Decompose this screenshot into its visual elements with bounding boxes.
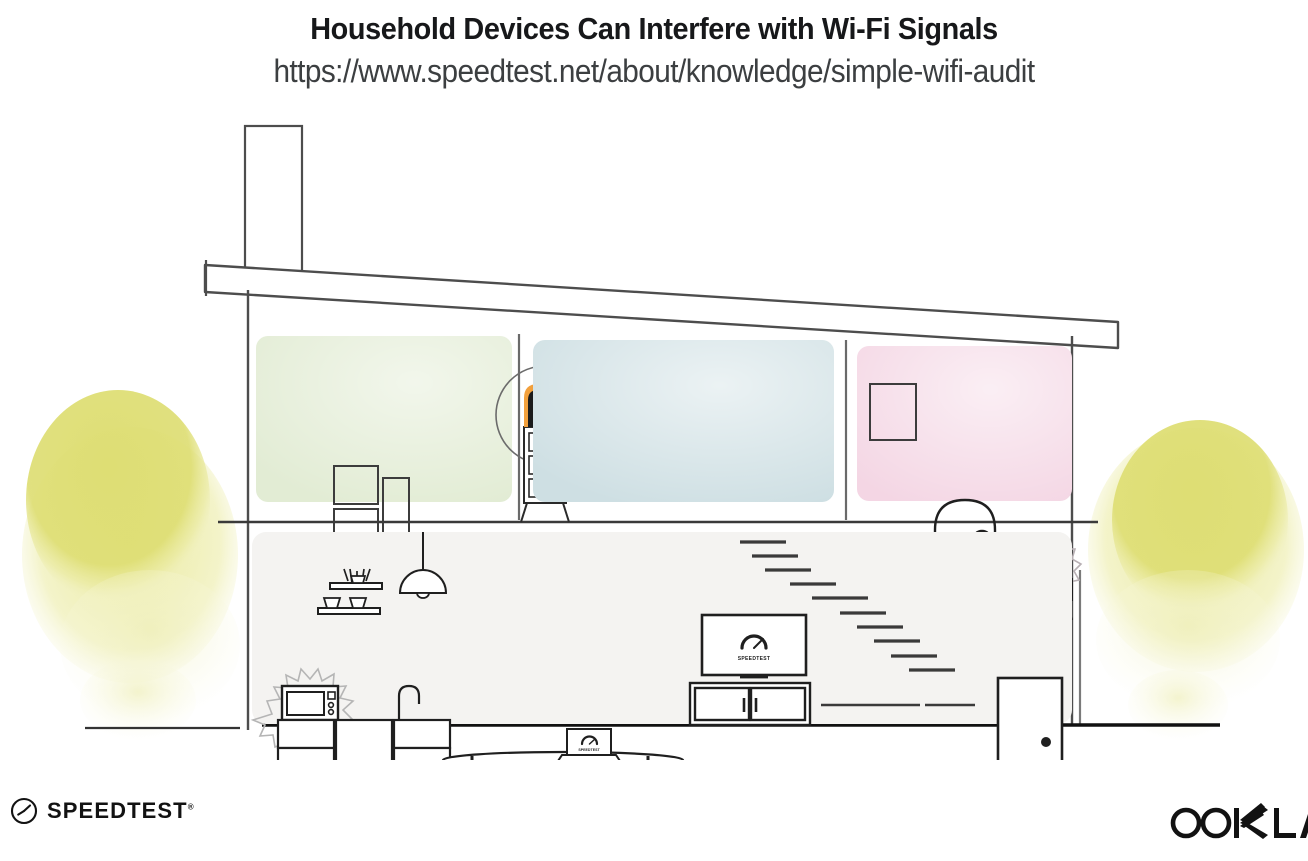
ookla-k-mark-icon xyxy=(1234,803,1268,839)
room-pink-nursery xyxy=(857,346,1072,501)
speedtest-wordmark-text: SPEEDTEST xyxy=(47,798,188,823)
media-console xyxy=(690,683,810,725)
house-illustration: SPEEDTEST xyxy=(0,100,1308,760)
microwave xyxy=(282,686,338,720)
page-title: Household Devices Can Interfere with Wi-… xyxy=(46,0,1262,47)
speedtest-wordmark: SPEEDTEST® xyxy=(47,798,194,824)
chimney xyxy=(245,126,302,278)
source-url: https://www.speedtest.net/about/knowledg… xyxy=(46,47,1262,90)
header: Household Devices Can Interfere with Wi-… xyxy=(0,0,1308,90)
kitchen-counters xyxy=(278,720,450,760)
speedtest-registered-mark: ® xyxy=(188,803,194,812)
tv-screen-label: SPEEDTEST xyxy=(738,656,770,662)
tree-left xyxy=(22,390,240,740)
room-ground-floor xyxy=(252,532,1072,724)
laptop-speedtest: SPEEDTEST xyxy=(558,729,620,760)
footer: SPEEDTEST® xyxy=(0,780,1308,861)
front-door xyxy=(998,678,1062,760)
door-knob-icon xyxy=(1041,737,1051,747)
television-speedtest: SPEEDTEST xyxy=(702,615,806,678)
room-blue-bedroom xyxy=(533,340,834,502)
ookla-logo[interactable]: ® xyxy=(1164,798,1308,842)
speedtest-gauge-icon xyxy=(10,797,38,825)
tree-right xyxy=(1088,420,1304,740)
speedtest-logo[interactable]: SPEEDTEST® xyxy=(10,797,194,825)
ookla-wordmark-icon: ® xyxy=(1164,798,1308,842)
poster-page: Household Devices Can Interfere with Wi-… xyxy=(0,0,1308,861)
roof-slab xyxy=(205,260,1118,348)
laptop-screen-label: SPEEDTEST xyxy=(578,748,600,752)
